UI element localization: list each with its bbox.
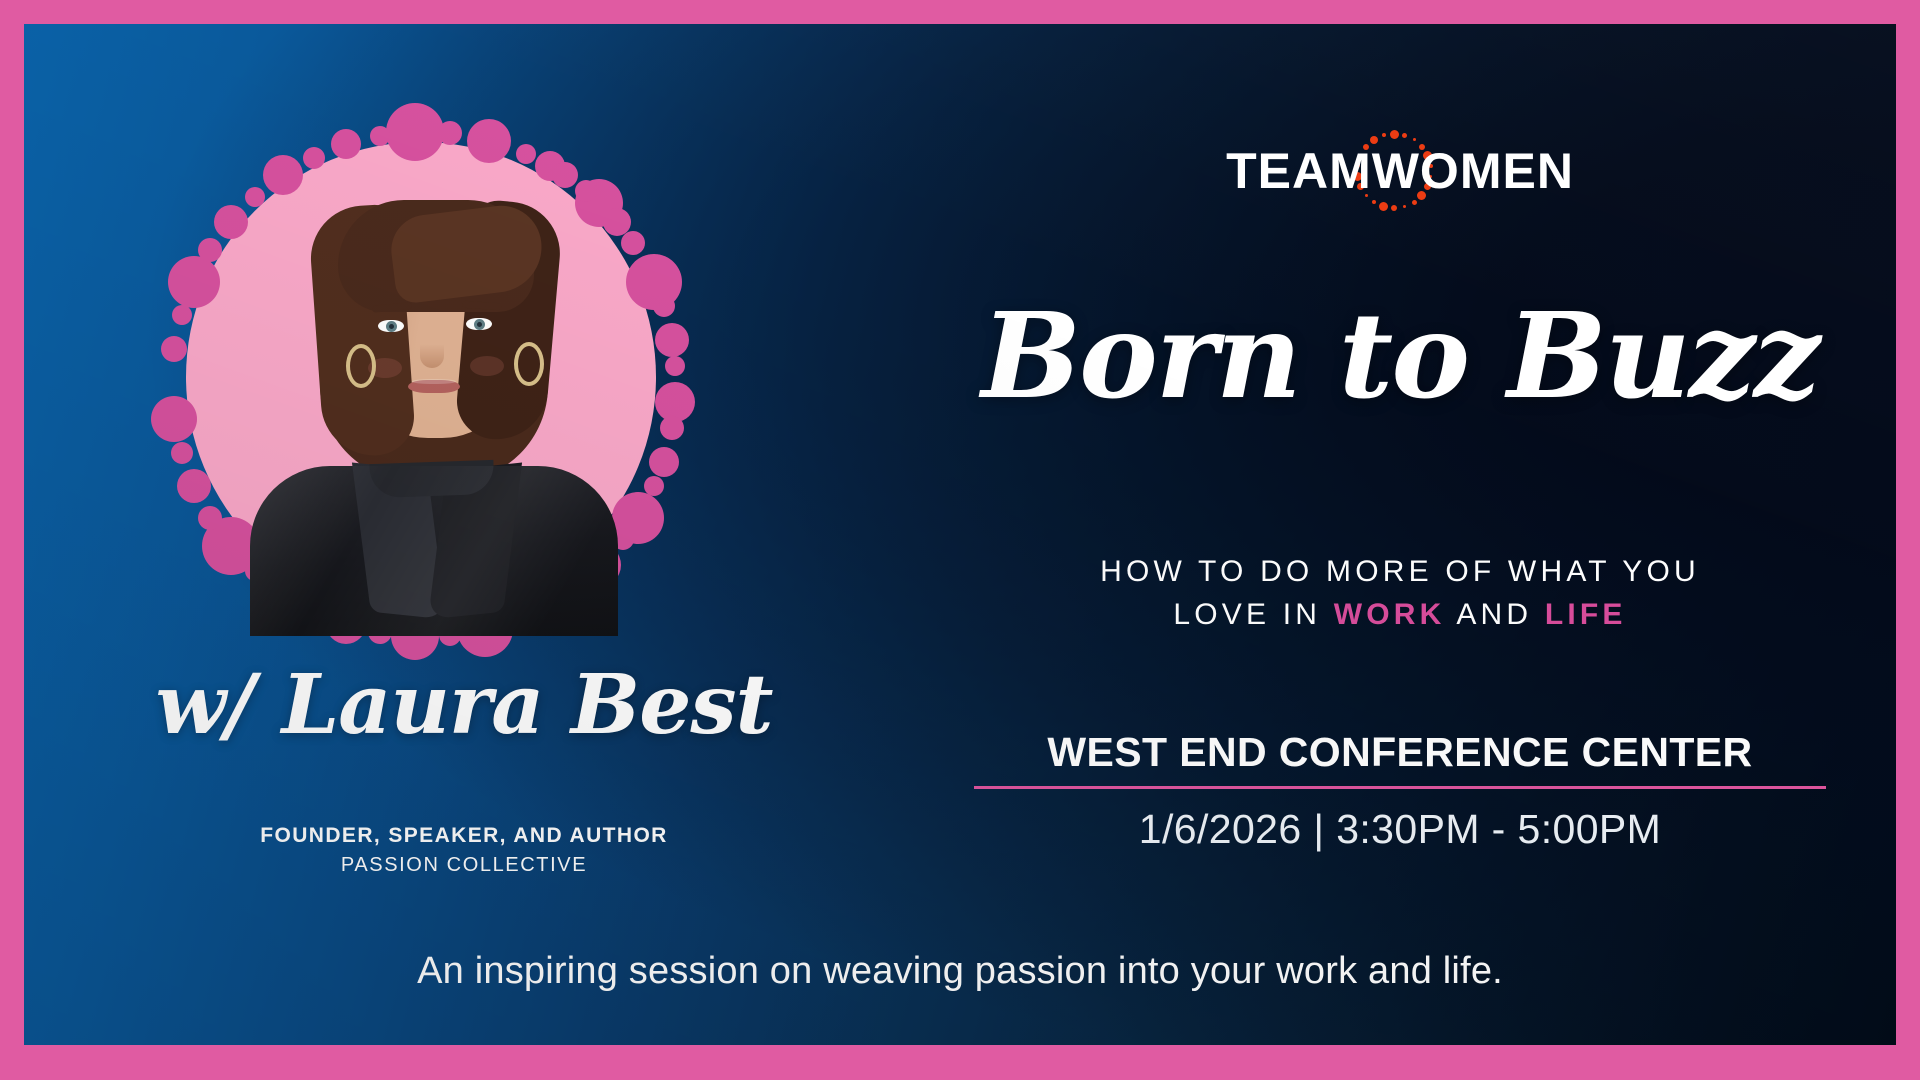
subtitle-line-2-prefix: LOVE IN [1173, 598, 1333, 631]
logo-ring-dot [1391, 205, 1397, 211]
speaker-portrait [242, 166, 622, 636]
ring-dot [370, 126, 390, 146]
portrait-earring-left [346, 344, 376, 388]
event-poster: w/ Laura Best FOUNDER, SPEAKER, AND AUTH… [0, 0, 1920, 1080]
page-title: Born to Buzz [904, 294, 1896, 418]
portrait-mouth-highlight [412, 379, 456, 384]
event-details-column: TEAMWOMEN Born to Buzz HOW TO DO MORE OF… [904, 24, 1896, 1045]
ring-dot [621, 231, 645, 255]
ring-dot [172, 305, 192, 325]
footer-tagline: An inspiring session on weaving passion … [24, 950, 1896, 993]
ring-dot [660, 416, 684, 440]
ring-dot [644, 476, 664, 496]
venue-name: WEST END CONFERENCE CENTER [970, 729, 1830, 776]
divider-rule [974, 786, 1826, 789]
portrait-earring-right [514, 342, 544, 386]
poster-canvas: w/ Laura Best FOUNDER, SPEAKER, AND AUTH… [24, 24, 1896, 1045]
speaker-role: FOUNDER, SPEAKER, AND AUTHOR [24, 824, 904, 848]
logo-ring-dot [1372, 200, 1376, 204]
logo-ring-dot [1402, 133, 1407, 138]
ring-dot [649, 447, 679, 477]
logo-ring-dot [1403, 205, 1406, 208]
event-datetime: 1/6/2026 | 3:30PM - 5:00PM [970, 806, 1830, 853]
subtitle: HOW TO DO MORE OF WHAT YOU LOVE IN WORK … [920, 551, 1880, 636]
logo-ring-dot [1412, 200, 1417, 205]
ring-dot [665, 356, 685, 376]
portrait-eye-right [466, 318, 492, 330]
speaker-column: w/ Laura Best FOUNDER, SPEAKER, AND AUTH… [24, 24, 904, 1045]
subtitle-line-2-middle: AND [1445, 598, 1544, 631]
logo-ring-dot [1390, 130, 1399, 139]
subtitle-highlight-work: WORK [1334, 598, 1446, 631]
subtitle-line-1: HOW TO DO MORE OF WHAT YOU [1100, 555, 1700, 588]
speaker-organization: PASSION COLLECTIVE [24, 854, 904, 877]
logo-wordmark: TEAMWOMEN [1226, 146, 1574, 196]
ring-dot [151, 396, 197, 442]
logo-ring-dot [1382, 133, 1386, 137]
subtitle-highlight-life: LIFE [1545, 598, 1627, 631]
ring-dot [168, 256, 220, 308]
ring-dot [438, 121, 462, 145]
ring-dot [198, 506, 222, 530]
speaker-name-script: w/ Laura Best [24, 664, 904, 746]
ring-dot [467, 119, 511, 163]
portrait-eye-left [378, 320, 404, 332]
portrait-nose [420, 334, 444, 368]
ring-dot [386, 103, 444, 161]
logo-ring-dot [1413, 138, 1416, 141]
logo-ring-dot [1379, 202, 1388, 211]
portrait-block [144, 104, 704, 664]
portrait-jacket-sheen [250, 466, 618, 636]
ring-dot [177, 469, 211, 503]
portrait-cheek-right [470, 356, 504, 376]
ring-dot [653, 295, 675, 317]
ring-dot [655, 323, 689, 357]
teamwomen-logo: TEAMWOMEN [904, 136, 1896, 206]
ring-dot [161, 336, 187, 362]
ring-dot [516, 144, 536, 164]
ring-dot [171, 442, 193, 464]
